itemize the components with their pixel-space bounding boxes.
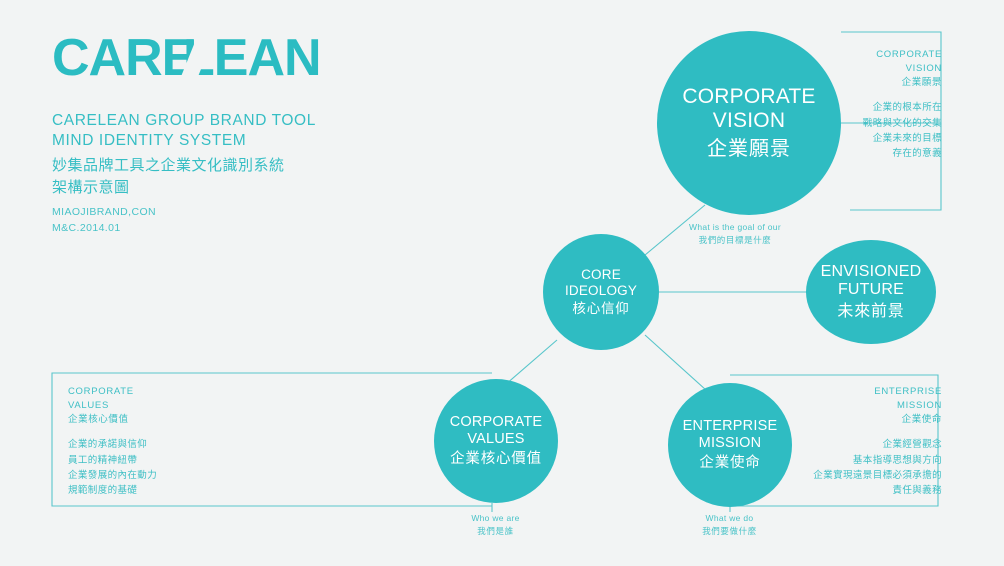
caption-who-cn: 我們是誰 <box>428 525 563 538</box>
anno-vision-body-line2: 戰略與文化的交集 <box>792 116 942 131</box>
node-core-ideology[interactable]: CORE IDEOLOGY 核心信仰 <box>543 234 659 350</box>
node-core-cn: 核心信仰 <box>572 301 629 317</box>
anno-values-body-line3: 企業發展的內在動力 <box>68 468 268 483</box>
node-corporate-values[interactable]: CORPORATE VALUES 企業核心價值 <box>434 379 558 503</box>
annotation-enterprise-mission: ENTERPRISE MISSION 企業使命 企業經營觀念 基本指導思想與方向… <box>752 385 942 499</box>
anno-values-body-line4: 規範制度的基礎 <box>68 483 268 498</box>
anno-vision-body-line3: 企業未來的目標 <box>792 131 942 146</box>
anno-mission-head-line1: ENTERPRISE <box>752 385 942 399</box>
node-vision-cn: 企業願景 <box>707 138 791 161</box>
diagram-canvas: CARE LEAN CARELEAN GROUP BRAND TOOL MIND… <box>0 0 1004 566</box>
caption-what-we-do: What we do 我們要做什麼 <box>662 512 797 538</box>
anno-mission-body-line2: 基本指導思想與方向 <box>752 453 942 468</box>
anno-values-head-cn: 企業核心價值 <box>68 413 268 427</box>
annotation-corporate-vision: CORPORATE VISION 企業願景 企業的根本所在 戰略與文化的交集 企… <box>792 48 942 162</box>
caption-goal: What is the goal of our 我們的目標是什麼 <box>645 221 825 247</box>
node-values-cn: 企業核心價值 <box>450 451 542 468</box>
caption-what-en: What we do <box>662 512 797 525</box>
anno-vision-head-cn: 企業願景 <box>792 76 942 90</box>
caption-who-we-are: Who we are 我們是誰 <box>428 512 563 538</box>
anno-values-head-line2: VALUES <box>68 399 268 413</box>
anno-mission-body-line1: 企業經營觀念 <box>752 437 942 452</box>
node-core-en-line1: CORE <box>581 267 621 283</box>
anno-vision-body-line4: 存在的意義 <box>792 146 942 161</box>
node-values-en-line1: CORPORATE <box>450 414 543 431</box>
node-values-en-line2: VALUES <box>467 431 524 448</box>
annotation-corporate-values: CORPORATE VALUES 企業核心價值 企業的承諾與信仰 員工的精神紐帶… <box>68 385 268 499</box>
anno-mission-body-line3: 企業實現遠景目標必須承擔的 <box>752 468 942 483</box>
node-future-en-line1: ENVISIONED <box>821 263 922 282</box>
node-envisioned-future[interactable]: ENVISIONED FUTURE 未來前景 <box>806 240 936 344</box>
anno-mission-body-line4: 責任與義務 <box>752 483 942 498</box>
anno-values-body-line2: 員工的精神紐帶 <box>68 453 268 468</box>
anno-values-body-line1: 企業的承諾與信仰 <box>68 437 268 452</box>
caption-goal-en: What is the goal of our <box>645 221 825 234</box>
node-core-en-line2: IDEOLOGY <box>565 283 637 299</box>
anno-vision-body-line1: 企業的根本所在 <box>792 100 942 115</box>
anno-mission-head-cn: 企業使命 <box>752 413 942 427</box>
node-future-cn: 未來前景 <box>837 303 904 322</box>
anno-vision-head-line1: CORPORATE <box>792 48 942 62</box>
anno-values-head-line1: CORPORATE <box>68 385 268 399</box>
node-vision-en-line2: VISION <box>713 109 785 133</box>
caption-who-en: Who we are <box>428 512 563 525</box>
anno-mission-head-line2: MISSION <box>752 399 942 413</box>
caption-goal-cn: 我們的目標是什麼 <box>645 234 825 247</box>
anno-vision-head-line2: VISION <box>792 62 942 76</box>
caption-what-cn: 我們要做什麼 <box>662 525 797 538</box>
node-future-en-line2: FUTURE <box>838 281 904 300</box>
